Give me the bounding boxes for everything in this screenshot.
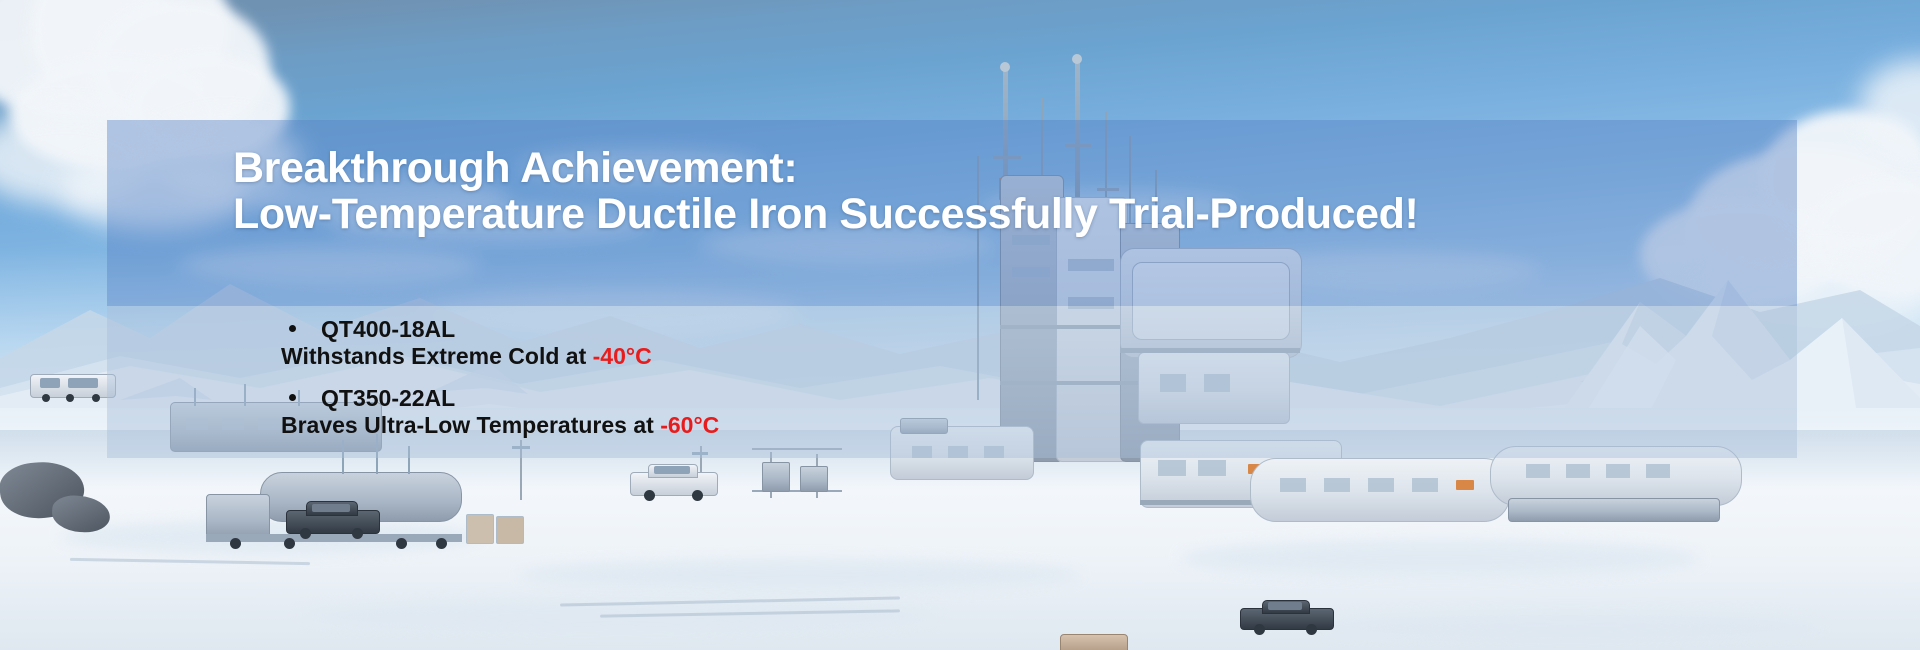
snow-drift (520, 560, 1080, 590)
promo-banner: Breakthrough Achievement: Low-Temperatur… (0, 0, 1920, 650)
list-item: QT400-18AL Withstands Extreme Cold at -4… (281, 316, 1681, 370)
headline-line-2: Low-Temperature Ductile Iron Successfull… (233, 196, 1733, 233)
snow-drift (1180, 540, 1700, 576)
bullet-dot-icon (289, 325, 296, 332)
vehicle-small-front (1060, 630, 1130, 650)
bullet-description-text: Braves Ultra-Low Temperatures at (281, 412, 660, 438)
temperature-value: -40°C (593, 343, 652, 369)
bullet-grade-row: QT350-22AL (281, 385, 1681, 412)
storage-module-b (1250, 450, 1520, 540)
material-grade: QT400-18AL (321, 316, 455, 342)
vehicle-car-dark (1240, 596, 1336, 640)
bullet-grade-row: QT400-18AL (281, 316, 1681, 343)
bullet-description-text: Withstands Extreme Cold at (281, 343, 593, 369)
vehicle-suv-dark (286, 498, 382, 542)
snow-drift (1320, 612, 1820, 640)
bullet-dot-icon (289, 394, 296, 401)
bullet-description-row: Withstands Extreme Cold at -40°C (281, 343, 1681, 370)
page-title: Breakthrough Achievement: Low-Temperatur… (233, 150, 1733, 233)
temperature-value: -60°C (660, 412, 719, 438)
bullet-description-row: Braves Ultra-Low Temperatures at -60°C (281, 412, 1681, 439)
feature-list: QT400-18AL Withstands Extreme Cold at -4… (281, 316, 1681, 439)
vehicle-suv-white (630, 462, 722, 504)
list-item: QT350-22AL Braves Ultra-Low Temperatures… (281, 385, 1681, 439)
material-grade: QT350-22AL (321, 385, 455, 411)
